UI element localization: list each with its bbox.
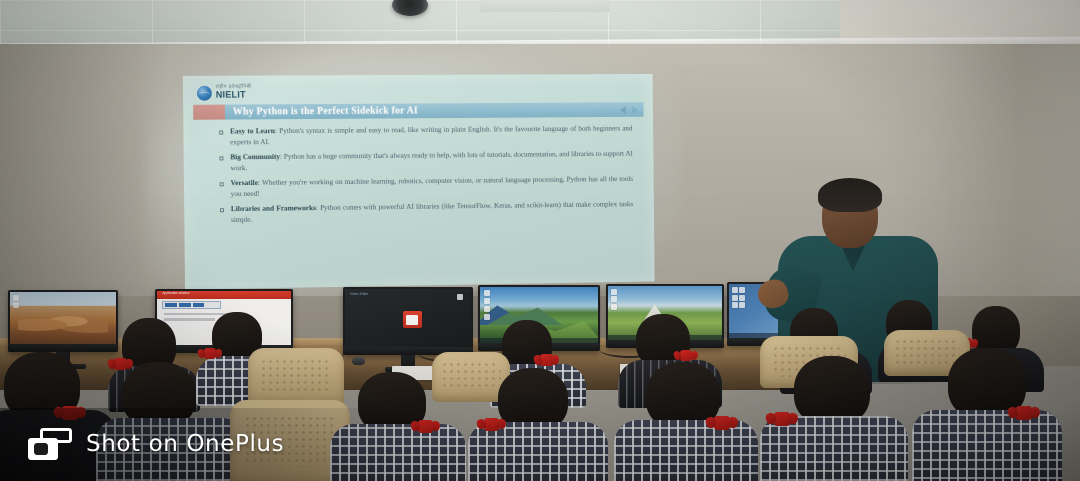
- bullet-text: : Whether you're working on machine lear…: [231, 174, 633, 198]
- projection-screen: राष्ट्रीय इलेक्ट्रॉनिकी NIELIT Why Pytho…: [159, 60, 664, 298]
- desktop-icons[interactable]: [457, 294, 463, 300]
- bullet-square-icon: [219, 156, 223, 160]
- hair-ribbon: [204, 348, 216, 359]
- title-band: Why Python is the Perfect Sidekick for A…: [225, 102, 644, 119]
- instructor-hair: [818, 178, 882, 212]
- bullet-term: Libraries and Frameworks: [231, 203, 316, 213]
- desktop-icons[interactable]: [732, 287, 744, 305]
- hair-ribbon: [484, 418, 499, 431]
- hair-ribbon: [418, 420, 433, 433]
- window-title-bar: Application window: [157, 291, 291, 299]
- prev-slide-arrow-icon[interactable]: [620, 106, 626, 114]
- bullet-item: Easy to Learn: Python's syntax is simple…: [219, 124, 632, 148]
- presentation-slide: राष्ट्रीय इलेक्ट्रॉनिकी NIELIT Why Pytho…: [183, 74, 655, 290]
- hair-ribbon: [714, 416, 730, 430]
- bullet-item: Versatile: Whether you're working on mac…: [220, 174, 633, 200]
- hair-ribbon: [680, 350, 692, 361]
- logo-hindi-line: राष्ट्रीय इलेक्ट्रॉनिकी: [216, 85, 252, 90]
- bullet-text: : Python has a huge community that's alw…: [230, 149, 632, 172]
- monitor-1-screen: [10, 292, 116, 344]
- desert-wallpaper: [10, 292, 116, 344]
- slide-bullet-list: Easy to Learn: Python's syntax is simple…: [193, 117, 644, 226]
- student-body: [614, 420, 758, 481]
- slide-title: Why Python is the Perfect Sidekick for A…: [233, 104, 615, 117]
- slide-logo: राष्ट्रीय इलेक्ट्रॉनिकी NIELIT: [193, 80, 644, 104]
- slide-nav-arrows: [620, 106, 638, 114]
- hair-ribbon: [1016, 406, 1032, 420]
- bullet-item: Big Community: Python has a huge communi…: [219, 149, 632, 174]
- logo-acronym: NIELIT: [216, 91, 252, 100]
- monitor-3-screen: Video Editor: [345, 289, 471, 347]
- window-title-text: Application window: [162, 291, 189, 295]
- student-front: [760, 356, 908, 481]
- student-body: [912, 410, 1062, 481]
- watermark-text: Shot on OnePlus: [86, 431, 284, 457]
- media-app-icon[interactable]: [403, 311, 422, 328]
- bullet-square-icon: [219, 131, 223, 135]
- bullet-item: Libraries and Frameworks: Python comes w…: [220, 199, 633, 225]
- title-accent-block: [193, 105, 225, 120]
- oneplus-logo-icon: [28, 428, 72, 460]
- slide-title-bar: Why Python is the Perfect Sidekick for A…: [193, 102, 643, 120]
- desktop-icons[interactable]: [484, 290, 490, 314]
- hair-ribbon: [774, 412, 790, 426]
- monitor-1-bezel: [8, 344, 118, 352]
- student-front: [614, 362, 758, 481]
- desktop-icons[interactable]: [611, 289, 617, 307]
- watermark: Shot on OnePlus: [28, 428, 284, 460]
- student-front: [468, 368, 608, 481]
- mouse[interactable]: [352, 357, 365, 365]
- monitor-3-window-title: Video Editor: [350, 292, 368, 296]
- monitor-1: [8, 290, 118, 352]
- window-toolbar[interactable]: [162, 301, 221, 310]
- bullet-term: Easy to Learn: [230, 126, 275, 135]
- student-front: [912, 348, 1062, 481]
- desktop-icons[interactable]: [13, 295, 19, 307]
- classroom-photo: राष्ट्रीय इलेक्ट्रॉनिकी NIELIT Why Pytho…: [0, 0, 1080, 481]
- next-slide-arrow-icon[interactable]: [632, 106, 638, 114]
- ceiling-beam: [479, 0, 610, 12]
- bullet-square-icon: [220, 182, 224, 186]
- nielit-globe-icon: [197, 85, 212, 100]
- bullet-text: : Python's syntax is simple and easy to …: [230, 124, 632, 147]
- bullet-term: Versatile: [231, 178, 258, 187]
- logo-text-block: राष्ट्रीय इलेक्ट्रॉनिकी NIELIT: [216, 85, 252, 100]
- bullet-square-icon: [220, 208, 224, 212]
- hair-ribbon: [540, 354, 553, 366]
- bullet-term: Big Community: [230, 152, 280, 161]
